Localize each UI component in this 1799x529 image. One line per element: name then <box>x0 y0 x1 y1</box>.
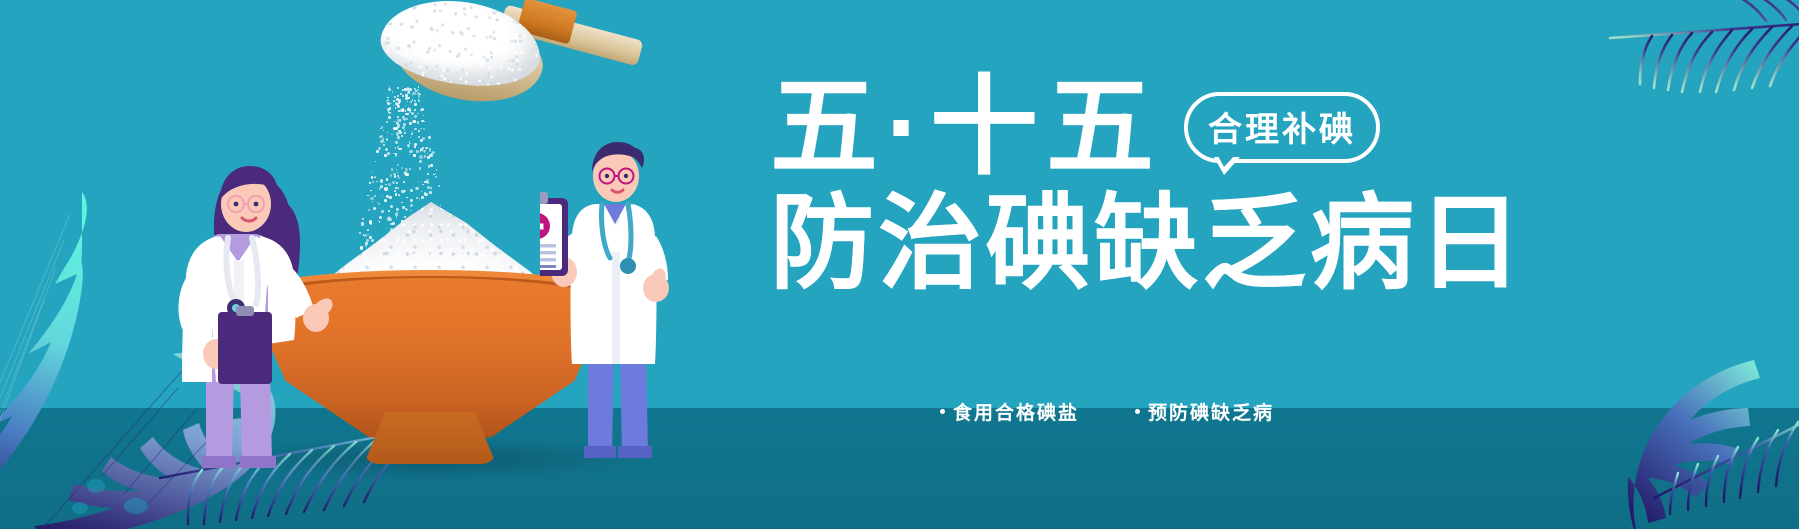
male-doctor-with-medical-form <box>540 140 690 460</box>
headline-first-row: 五·十五 合理补碘 <box>770 72 1470 182</box>
status-badge: 合理补碘 <box>1184 92 1380 163</box>
female-doctor-with-clipboard <box>148 160 338 470</box>
page-title: 防治碘缺乏病日 <box>770 190 1470 299</box>
bullet-dot-icon <box>940 409 945 414</box>
tagline-list: 食用合格碘盐 预防碘缺乏病 <box>940 398 1500 425</box>
tagline-item-1: 食用合格碘盐 <box>940 398 1079 425</box>
headline-block: 五·十五 合理补碘 防治碘缺乏病日 <box>770 72 1470 299</box>
tagline-item-2: 预防碘缺乏病 <box>1135 398 1274 425</box>
bowl-foot <box>364 412 496 464</box>
date-line: 五·十五 <box>770 72 1162 182</box>
tagline-text-2: 预防碘缺乏病 <box>1148 398 1274 425</box>
bullet-dot-icon <box>1135 409 1140 414</box>
iodine-day-banner: 五·十五 合理补碘 防治碘缺乏病日 食用合格碘盐 预防碘缺乏病 <box>0 0 1799 529</box>
tagline-text-1: 食用合格碘盐 <box>953 398 1079 425</box>
